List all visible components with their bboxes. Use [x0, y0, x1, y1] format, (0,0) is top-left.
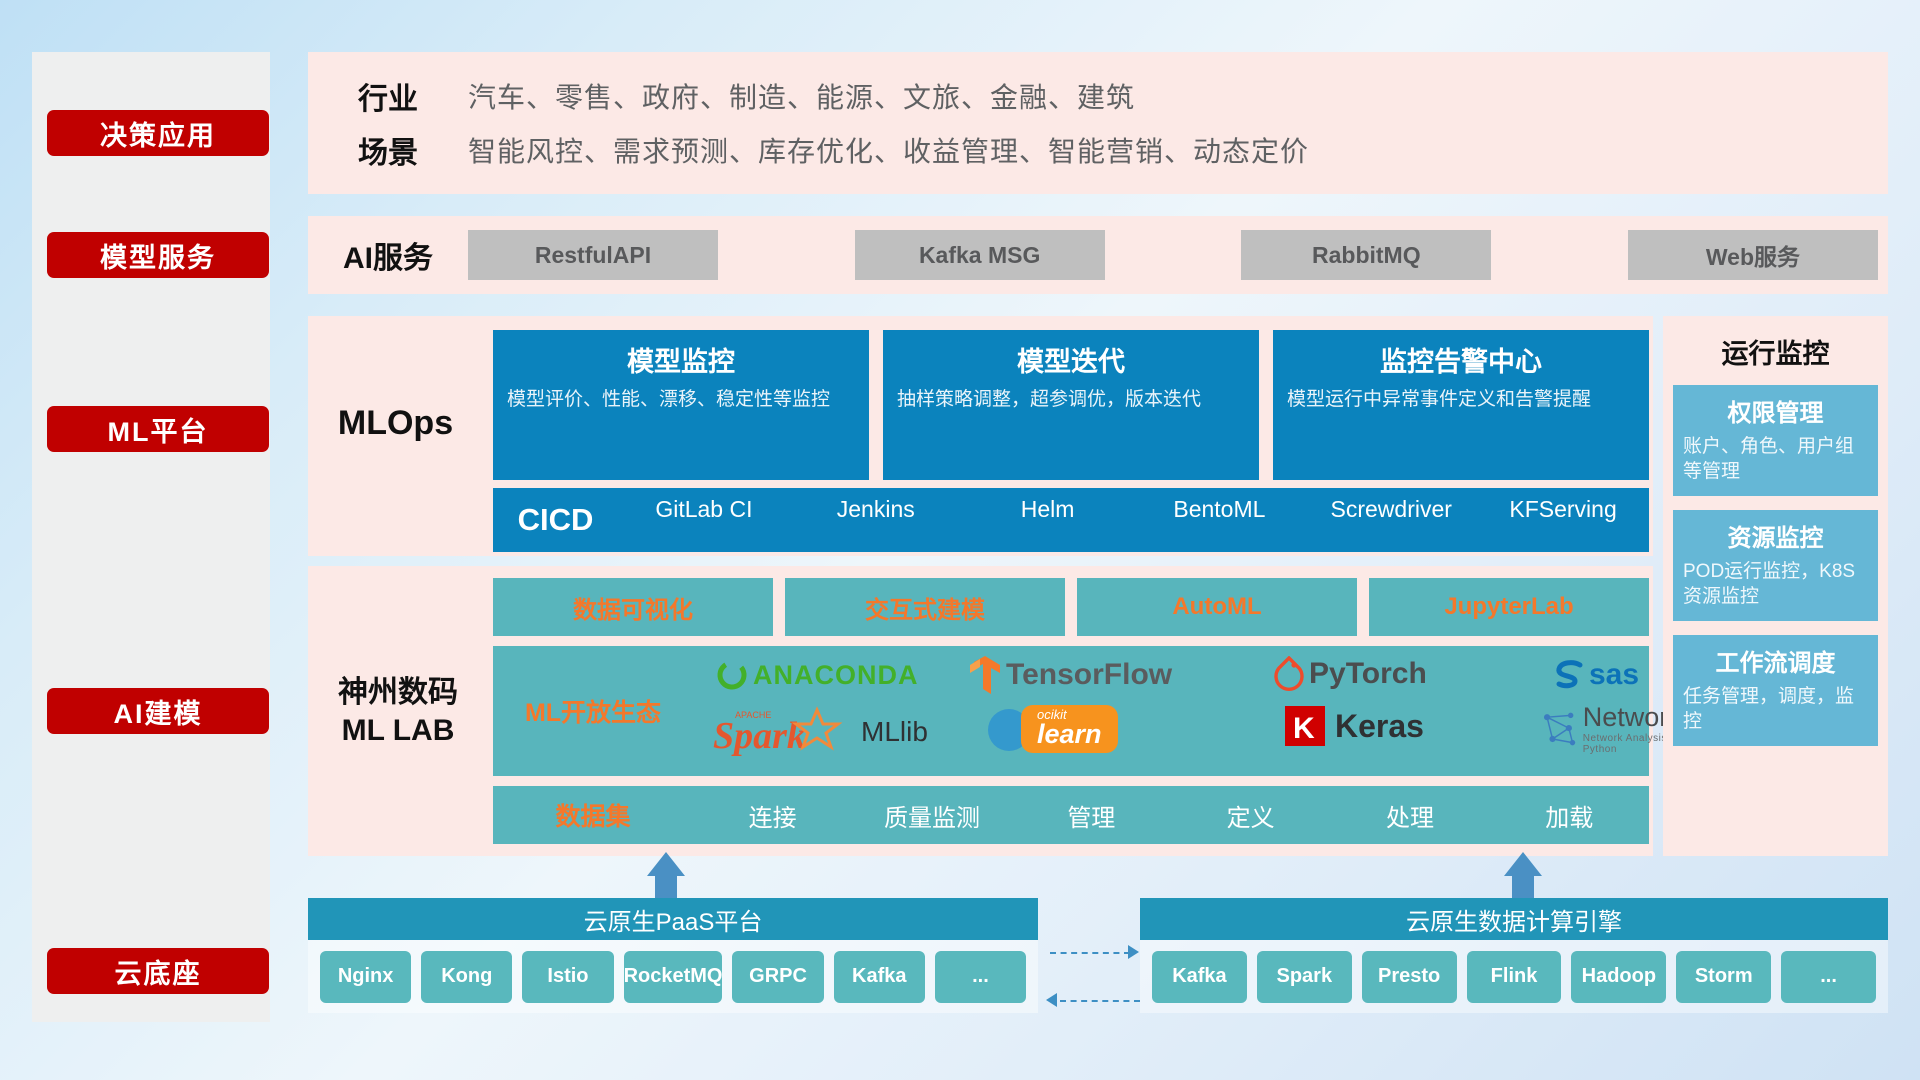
cloud-compute-title: 云原生数据计算引擎	[1140, 898, 1888, 940]
cloud-chip-rocketmq[interactable]: RocketMQ	[624, 951, 723, 1003]
keras-icon: K	[1283, 704, 1327, 748]
cloud-chip-flink[interactable]: Flink	[1467, 951, 1562, 1003]
pytorch-label: PyTorch	[1309, 657, 1427, 691]
anaconda-logo: ANACONDA	[715, 658, 919, 692]
scenario-row: 场景 智能风控、需求预测、库存优化、收益管理、智能营销、动态定价	[308, 124, 1309, 176]
mllib-label: MLlib	[861, 716, 928, 748]
svg-text:K: K	[1293, 712, 1315, 745]
chip-jupyterlab[interactable]: JupyterLab	[1369, 578, 1649, 636]
dataset-item-define[interactable]: 定义	[1171, 798, 1330, 833]
svg-text:APACHE: APACHE	[735, 710, 771, 720]
anaconda-label: ANACONDA	[753, 660, 919, 691]
spark-icon: Spark APACHE	[713, 704, 855, 760]
card-title: 监控告警中心	[1287, 340, 1635, 379]
cloud-paas-block: 云原生PaaS平台 Nginx Kong Istio RocketMQ GRPC…	[308, 898, 1038, 1013]
cloud-chip-kafka2[interactable]: Kafka	[1152, 951, 1247, 1003]
cicd-item-bentoml[interactable]: BentoML	[1133, 497, 1305, 543]
cicd-items: GitLab CI Jenkins Helm BentoML Screwdriv…	[618, 497, 1649, 543]
cloud-chip-more[interactable]: ...	[935, 951, 1026, 1003]
ai-service-chip-web-service[interactable]: Web服务	[1628, 230, 1878, 280]
arrow-stem-right	[1512, 872, 1534, 900]
ai-service-chip-restfulapi[interactable]: RestfulAPI	[468, 230, 718, 280]
runtime-card-workflow[interactable]: 工作流调度 任务管理，调度，监控	[1673, 635, 1878, 746]
cloud-chip-nginx[interactable]: Nginx	[320, 951, 411, 1003]
arrow-head-left-icon	[647, 852, 685, 876]
pytorch-logo: PyTorch	[1273, 656, 1427, 692]
mlops-cards: 模型监控 模型评价、性能、漂移、稳定性等监控 模型迭代 抽样策略调整，超参调优，…	[493, 330, 1649, 480]
scikit-learn-logo: ocikit learn	[983, 704, 1118, 754]
cicd-item-helm[interactable]: Helm	[962, 497, 1134, 543]
dataset-item-process[interactable]: 处理	[1330, 798, 1489, 833]
scikit-learn-wordmark: ocikit learn	[1021, 705, 1118, 753]
anaconda-icon	[715, 658, 749, 692]
dataset-items: 连接 质量监测 管理 定义 处理 加载	[693, 798, 1649, 833]
sas-icon	[1553, 659, 1587, 691]
cloud-paas-chips: Nginx Kong Istio RocketMQ GRPC Kafka ...	[308, 940, 1038, 1013]
card-desc: 账户、角色、用户组等管理	[1683, 434, 1868, 484]
sidebar-item-label: 云底座	[115, 952, 202, 991]
cloud-chip-kong[interactable]: Kong	[421, 951, 512, 1003]
ml-open-ecosystem: ML开放生态 ANACONDA TensorFlow	[493, 646, 1649, 776]
runtime-card-permission[interactable]: 权限管理 账户、角色、用户组等管理	[1673, 385, 1878, 496]
dataset-item-manage[interactable]: 管理	[1012, 798, 1171, 833]
sidebar-item-label: 决策应用	[100, 114, 216, 153]
cloud-chip-storm[interactable]: Storm	[1676, 951, 1771, 1003]
card-desc: POD运行监控，K8S资源监控	[1683, 559, 1868, 609]
eco-label: ML开放生态	[493, 693, 693, 729]
mlops-card-alert-center[interactable]: 监控告警中心 模型运行中异常事件定义和告警提醒	[1273, 330, 1649, 480]
cloud-paas-title: 云原生PaaS平台	[308, 898, 1038, 940]
dashed-arrow-left-icon	[1046, 993, 1057, 1007]
cicd-item-screwdriver[interactable]: Screwdriver	[1305, 497, 1477, 543]
mlops-label: MLOps	[308, 404, 483, 443]
ai-service-chip-rabbitmq[interactable]: RabbitMQ	[1241, 230, 1491, 280]
cloud-chip-presto[interactable]: Presto	[1362, 951, 1457, 1003]
runtime-monitor-band: 运行监控 权限管理 账户、角色、用户组等管理 资源监控 POD运行监控，K8S资…	[1663, 316, 1888, 856]
ai-service-label: AI服务	[308, 233, 468, 277]
runtime-card-resource[interactable]: 资源监控 POD运行监控，K8S资源监控	[1673, 510, 1878, 621]
sidebar-item-decision-app[interactable]: 决策应用	[47, 110, 269, 156]
spark-mllib-logo: Spark APACHE MLlib	[713, 704, 928, 760]
ml-lab-top-chips: 数据可视化 交互式建模 AutoML JupyterLab	[493, 578, 1649, 636]
card-desc: 任务管理，调度，监控	[1683, 684, 1868, 734]
ai-service-chips: RestfulAPI Kafka MSG RabbitMQ Web服务	[468, 230, 1888, 280]
arrow-head-right-icon	[1504, 852, 1542, 876]
cloud-chip-hadoop[interactable]: Hadoop	[1571, 951, 1666, 1003]
dataset-item-connect[interactable]: 连接	[693, 798, 852, 833]
ml-lab-label-line1: 神州数码	[308, 674, 488, 712]
sidebar-item-model-service[interactable]: 模型服务	[47, 232, 269, 278]
card-desc: 模型评价、性能、漂移、稳定性等监控	[507, 387, 855, 412]
cloud-compute-chips: Kafka Spark Presto Flink Hadoop Storm ..…	[1140, 940, 1888, 1013]
sas-logo: sas	[1553, 658, 1639, 692]
cloud-chip-spark[interactable]: Spark	[1257, 951, 1352, 1003]
cicd-item-jenkins[interactable]: Jenkins	[790, 497, 962, 543]
dashed-connector-top	[1050, 952, 1130, 954]
cloud-chip-kafka[interactable]: Kafka	[834, 951, 925, 1003]
card-title: 模型监控	[507, 340, 855, 379]
networkx-icon	[1538, 706, 1580, 752]
card-title: 资源监控	[1683, 518, 1868, 553]
eco-logo-grid: ANACONDA TensorFlow PyTorch	[693, 646, 1649, 776]
tensorflow-label: TensorFlow	[1006, 658, 1172, 692]
cicd-label: CICD	[493, 502, 618, 538]
mlops-card-model-iteration[interactable]: 模型迭代 抽样策略调整，超参调优，版本迭代	[883, 330, 1259, 480]
sidebar-item-label: AI建模	[114, 692, 203, 731]
cloud-chip-grpc[interactable]: GRPC	[732, 951, 823, 1003]
dashed-arrow-right-icon	[1128, 945, 1139, 959]
industry-row: 行业 汽车、零售、政府、制造、能源、文旅、金融、建筑	[308, 70, 1135, 122]
dataset-row: 数据集 连接 质量监测 管理 定义 处理 加载	[493, 786, 1649, 844]
runtime-monitor-title: 运行监控	[1663, 316, 1888, 371]
left-rail	[32, 52, 270, 1022]
ml-lab-band: 神州数码 ML LAB 数据可视化 交互式建模 AutoML JupyterLa…	[308, 566, 1653, 856]
cicd-item-kfserving[interactable]: KFServing	[1477, 497, 1649, 543]
industry-label: 行业	[308, 74, 468, 118]
keras-label: Keras	[1335, 708, 1424, 745]
decision-layer-band: 行业 汽车、零售、政府、制造、能源、文旅、金融、建筑 场景 智能风控、需求预测、…	[308, 52, 1888, 194]
card-desc: 模型运行中异常事件定义和告警提醒	[1287, 387, 1635, 412]
dataset-label: 数据集	[493, 797, 693, 833]
card-title: 权限管理	[1683, 393, 1868, 428]
card-desc: 抽样策略调整，超参调优，版本迭代	[897, 387, 1245, 412]
ml-lab-label: 神州数码 ML LAB	[308, 674, 488, 749]
tensorflow-icon	[968, 654, 1002, 696]
mlops-band: MLOps 模型监控 模型评价、性能、漂移、稳定性等监控 模型迭代 抽样策略调整…	[308, 316, 1653, 556]
card-title: 工作流调度	[1683, 643, 1868, 678]
pytorch-icon	[1273, 656, 1305, 692]
keras-logo: K Keras	[1283, 704, 1424, 748]
cicd-item-gitlab-ci[interactable]: GitLab CI	[618, 497, 790, 543]
cloud-chip-more2[interactable]: ...	[1781, 951, 1876, 1003]
chip-interactive-modeling[interactable]: 交互式建模	[785, 578, 1065, 636]
tensorflow-logo: TensorFlow	[968, 654, 1172, 696]
dataset-item-quality[interactable]: 质量监测	[852, 798, 1011, 833]
cloud-compute-block: 云原生数据计算引擎 Kafka Spark Presto Flink Hadoo…	[1140, 898, 1888, 1013]
chip-automl[interactable]: AutoML	[1077, 578, 1357, 636]
mlops-card-model-monitoring[interactable]: 模型监控 模型评价、性能、漂移、稳定性等监控	[493, 330, 869, 480]
ai-service-band: AI服务 RestfulAPI Kafka MSG RabbitMQ Web服务	[308, 216, 1888, 294]
cloud-chip-istio[interactable]: Istio	[522, 951, 613, 1003]
scenario-label: 场景	[308, 128, 468, 172]
svg-text:Spark: Spark	[713, 715, 806, 757]
sidebar-item-label: 模型服务	[100, 236, 216, 275]
sidebar-item-ai-modeling[interactable]: AI建模	[47, 688, 269, 734]
sidebar-item-ml-platform[interactable]: ML平台	[47, 406, 269, 452]
architecture-diagram: 决策应用 模型服务 ML平台 AI建模 云底座 行业 汽车、零售、政府、制造、能…	[0, 0, 1920, 1080]
dashed-connector-bottom	[1060, 1000, 1140, 1002]
scenario-values: 智能风控、需求预测、库存优化、收益管理、智能营销、动态定价	[468, 130, 1309, 170]
ml-lab-label-line2: ML LAB	[308, 712, 488, 750]
chip-data-visualization[interactable]: 数据可视化	[493, 578, 773, 636]
ai-service-chip-kafka-msg[interactable]: Kafka MSG	[855, 230, 1105, 280]
card-title: 模型迭代	[897, 340, 1245, 379]
sidebar-item-cloud-base[interactable]: 云底座	[47, 948, 269, 994]
dataset-item-load[interactable]: 加载	[1490, 798, 1649, 833]
sas-label: sas	[1589, 658, 1639, 692]
sidebar-item-label: ML平台	[108, 410, 209, 449]
industry-values: 汽车、零售、政府、制造、能源、文旅、金融、建筑	[468, 76, 1135, 116]
arrow-stem-left	[655, 872, 677, 900]
cicd-row: CICD GitLab CI Jenkins Helm BentoML Scre…	[493, 488, 1649, 552]
